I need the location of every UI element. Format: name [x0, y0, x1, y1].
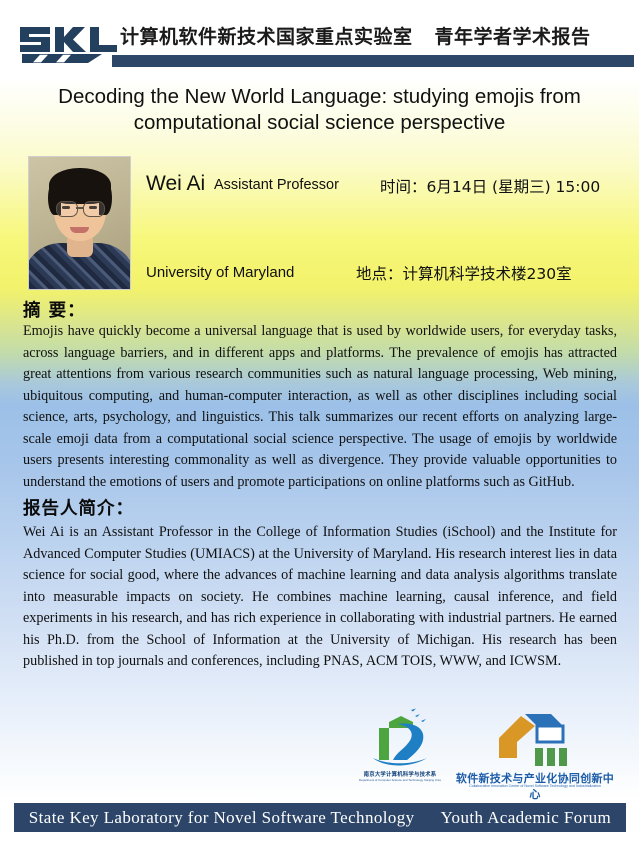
- photo-glasses-right: [83, 201, 105, 217]
- page-title-line1: Decoding the New World Language: studyin…: [22, 84, 617, 110]
- footer-series-name: Youth Academic Forum: [441, 808, 612, 828]
- talk-venue-value: 计算机科学技术楼230室: [403, 265, 572, 283]
- footer-lab-name: State Key Laboratory for Novel Software …: [29, 808, 415, 828]
- footer-bar-inner: State Key Laboratory for Novel Software …: [14, 803, 626, 832]
- header-accent-bar: [112, 55, 634, 67]
- footer-bar: State Key Laboratory for Novel Software …: [14, 803, 626, 832]
- talk-time-label: 时间：: [380, 178, 427, 196]
- footer-logos: 南京大学计算机科学与技术系 Department of Computer Sci…: [0, 706, 639, 796]
- nju-logo: 南京大学计算机科学与技术系 Department of Computer Sci…: [359, 706, 441, 796]
- header-lab-name: 计算机软件新技术国家重点实验室: [120, 26, 413, 48]
- photo-glasses-bridge: [76, 207, 83, 209]
- talk-time-value: 6月14日 (星期三) 15:00: [427, 178, 601, 196]
- abstract-heading: 摘 要：: [23, 297, 86, 322]
- speaker-affiliation: University of Maryland: [146, 264, 294, 281]
- page-title: Decoding the New World Language: studyin…: [22, 84, 617, 136]
- nju-logo-icon: [367, 708, 433, 770]
- speaker-role: Assistant Professor: [214, 177, 339, 193]
- poster-header: 计算机软件新技术国家重点实验室青年学者学术报告: [0, 0, 639, 72]
- speaker-block: Wei Ai Assistant Professor 时间：6月14日 (星期三…: [28, 156, 628, 288]
- cic-logo-caption-en: Collaborative Innovation Center of Novel…: [455, 784, 615, 788]
- cic-logo-icon: [495, 708, 573, 770]
- skl-logo-icon: [18, 21, 122, 63]
- talk-venue: 地点：计算机科学技术楼230室: [356, 262, 572, 284]
- photo-glasses-left: [56, 201, 78, 217]
- bio-heading: 报告人简介：: [23, 495, 134, 520]
- photo-mouth: [70, 227, 89, 233]
- abstract-text: Emojis have quickly become a universal l…: [23, 321, 617, 493]
- page-title-line2: computational social science perspective: [22, 110, 617, 136]
- header-series-name: 青年学者学术报告: [435, 26, 591, 48]
- talk-venue-label: 地点：: [356, 265, 403, 283]
- speaker-name: Wei Ai: [146, 172, 205, 196]
- nju-logo-caption-cn: 南京大学计算机科学与技术系: [359, 770, 441, 778]
- nju-logo-caption-en: Department of Computer Science and Techn…: [359, 778, 441, 782]
- header-title: 计算机软件新技术国家重点实验室青年学者学术报告: [120, 22, 632, 49]
- speaker-photo: [28, 156, 131, 290]
- talk-time: 时间：6月14日 (星期三) 15:00: [380, 175, 600, 197]
- bio-text: Wei Ai is an Assistant Professor in the …: [23, 522, 617, 673]
- seminar-poster: 计算机软件新技术国家重点实验室青年学者学术报告 Decoding the New…: [0, 0, 639, 846]
- cic-logo: 软件新技术与产业化协同创新中心 Collaborative Innovation…: [455, 708, 615, 796]
